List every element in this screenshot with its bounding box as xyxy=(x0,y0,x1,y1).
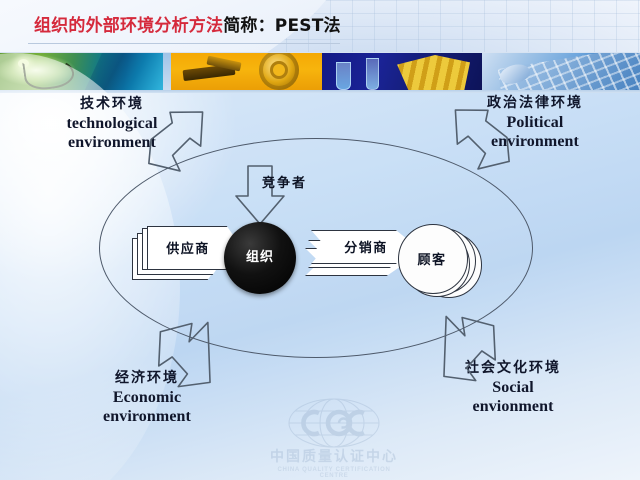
test-tube-icon xyxy=(336,62,351,90)
banner-orange-gears-photo xyxy=(171,53,322,94)
customer-node[interactable]: 顾客 xyxy=(396,222,482,298)
arrow-social-inward xyxy=(432,312,504,386)
cqc-watermark-logo: 中国质量认证中心 CHINA QUALITY CERTIFICATION CEN… xyxy=(268,398,400,476)
page-title-black: 简称：PEST法 xyxy=(223,16,341,36)
banner-divider xyxy=(163,53,171,94)
label-economic-en-1: Economic xyxy=(62,389,232,408)
organization-label: 组织 xyxy=(246,251,274,266)
page-title: 组织的外部环境分析方法简称：PEST法 xyxy=(34,11,341,36)
label-competitor: 竞争者 xyxy=(262,172,307,191)
arrow-political-inward xyxy=(443,106,515,180)
supplier-label: 供应商 xyxy=(147,226,229,268)
arrow-technological-inward xyxy=(145,108,215,180)
page-title-red: 组织的外部环境分析方法 xyxy=(34,16,223,36)
banner-lab-photo xyxy=(322,53,482,94)
supplier-node[interactable]: 供应商 xyxy=(132,226,230,278)
slide-canvas: 组织的外部环境分析方法简称：PEST法 技术环境 technological xyxy=(0,0,640,480)
globe-icon xyxy=(286,398,382,448)
banner-keyboard-photo xyxy=(482,53,640,94)
customer-label: 顾客 xyxy=(398,224,466,292)
beaker-icon xyxy=(366,58,379,90)
label-economic-en-2: environment xyxy=(62,408,232,427)
corn-icon xyxy=(394,55,470,92)
arrow-economic-inward xyxy=(150,318,222,390)
title-underline xyxy=(28,43,340,44)
gear-icon xyxy=(259,53,299,90)
logo-cn-text: 中国质量认证中心 xyxy=(268,446,400,466)
label-social-en-2: envionment xyxy=(420,398,606,417)
logo-en-text: CHINA QUALITY CERTIFICATION CENTRE xyxy=(268,467,400,479)
organization-node[interactable]: 组织 xyxy=(224,222,296,294)
